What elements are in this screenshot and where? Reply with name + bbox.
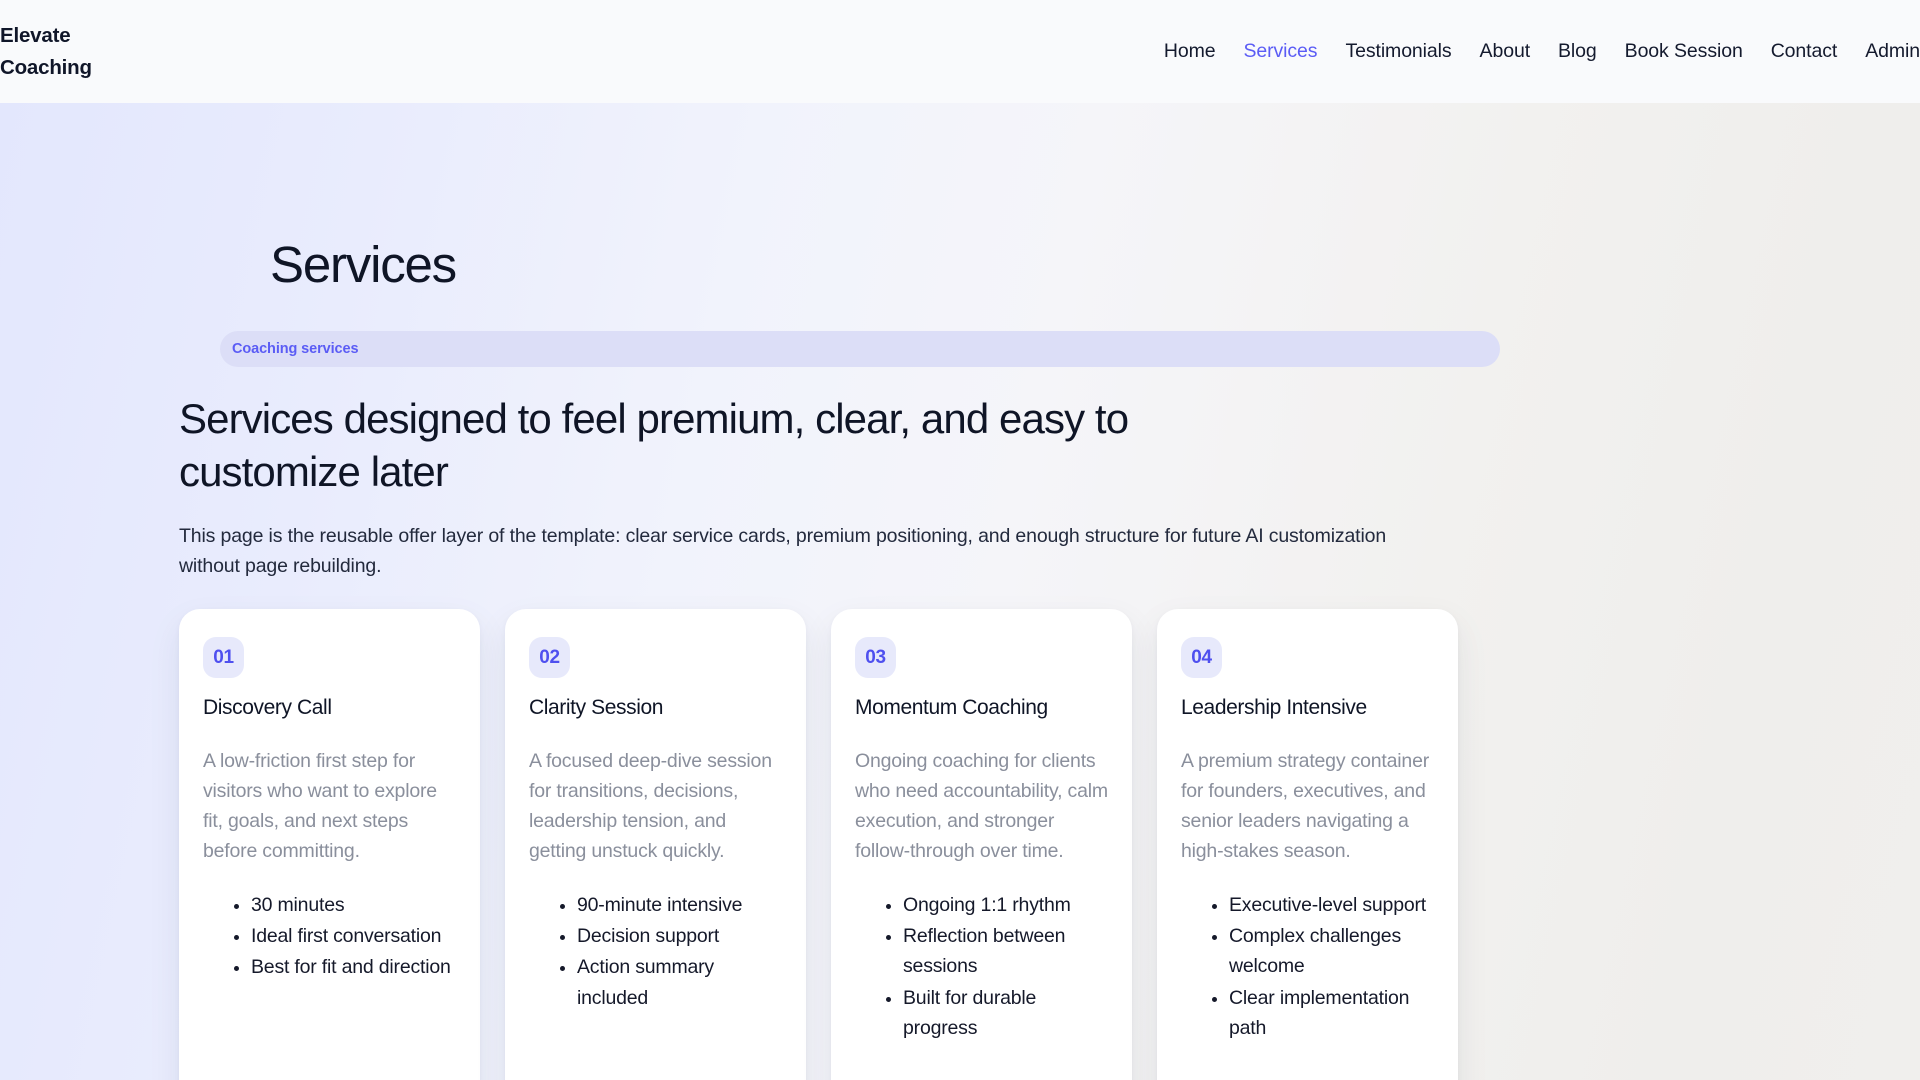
nav-item-admin[interactable]: Admin [1865, 42, 1920, 62]
card-feature-list: Ongoing 1:1 rhythm Reflection between se… [855, 890, 1108, 1044]
nav-item-home[interactable]: Home [1164, 42, 1216, 62]
card-feature-list: Executive-level support Complex challeng… [1181, 890, 1434, 1044]
nav-item-testimonials[interactable]: Testimonials [1345, 42, 1451, 62]
hero-subcopy: This page is the reusable offer layer of… [179, 521, 1439, 581]
page-title: Services [220, 238, 1720, 292]
nav-item-contact[interactable]: Contact [1771, 42, 1838, 62]
card-feature-item: 30 minutes [251, 890, 456, 920]
card-description: A low-friction first step for visitors w… [203, 746, 456, 867]
card-feature-item: Decision support [577, 921, 782, 951]
service-card[interactable]: 01 Discovery Call A low-friction first s… [179, 609, 480, 1080]
service-card-grid: 01 Discovery Call A low-friction first s… [179, 609, 1720, 1080]
card-description: Ongoing coaching for clients who need ac… [855, 746, 1108, 867]
card-feature-list: 30 minutes Ideal first conversation Best… [203, 890, 456, 983]
nav-item-services[interactable]: Services [1243, 42, 1317, 62]
card-feature-item: 90-minute intensive [577, 890, 782, 920]
card-number-badge: 02 [529, 637, 570, 678]
service-card[interactable]: 02 Clarity Session A focused deep-dive s… [505, 609, 806, 1080]
service-card[interactable]: 03 Momentum Coaching Ongoing coaching fo… [831, 609, 1132, 1080]
card-feature-item: Ongoing 1:1 rhythm [903, 890, 1108, 920]
brand-logo[interactable]: Elevate Coaching [0, 20, 200, 84]
card-description: A premium strategy container for founder… [1181, 746, 1434, 867]
brand-line-2: Coaching [0, 52, 200, 84]
card-feature-list: 90-minute intensive Decision support Act… [529, 890, 782, 1014]
eyebrow-label: Coaching services [232, 341, 358, 357]
hero-section: Services Coaching services Services desi… [0, 103, 1920, 1080]
nav-item-book-session[interactable]: Book Session [1625, 42, 1743, 62]
card-feature-item: Action summary included [577, 952, 782, 1013]
nav-item-blog[interactable]: Blog [1558, 42, 1597, 62]
services-page: Elevate Coaching Home Services Testimoni… [0, 0, 1920, 1080]
card-title: Leadership Intensive [1181, 695, 1434, 720]
card-feature-item: Executive-level support [1229, 890, 1434, 920]
card-feature-item: Reflection between sessions [903, 921, 1108, 982]
card-feature-item: Ideal first conversation [251, 921, 456, 951]
card-description: A focused deep-dive session for transiti… [529, 746, 782, 867]
card-feature-item: Complex challenges welcome [1229, 921, 1434, 982]
card-title: Discovery Call [203, 695, 456, 720]
card-title: Momentum Coaching [855, 695, 1108, 720]
primary-navigation: Home Services Testimonials About Blog Bo… [1164, 0, 1920, 103]
card-number-badge: 01 [203, 637, 244, 678]
brand-line-1: Elevate [0, 20, 200, 52]
card-number-badge: 04 [1181, 637, 1222, 678]
service-card[interactable]: 04 Leadership Intensive A premium strate… [1157, 609, 1458, 1080]
card-feature-item: Clear implementation path [1229, 983, 1434, 1044]
eyebrow-badge: Coaching services [220, 331, 1500, 367]
content-container: Services Coaching services Services desi… [220, 103, 1720, 1080]
hero-headline: Services designed to feel premium, clear… [179, 392, 1279, 500]
card-feature-item: Built for durable progress [903, 983, 1108, 1044]
site-header: Elevate Coaching Home Services Testimoni… [0, 0, 1920, 103]
card-title: Clarity Session [529, 695, 782, 720]
nav-item-about[interactable]: About [1480, 42, 1530, 62]
card-feature-item: Best for fit and direction [251, 952, 456, 982]
card-number-badge: 03 [855, 637, 896, 678]
